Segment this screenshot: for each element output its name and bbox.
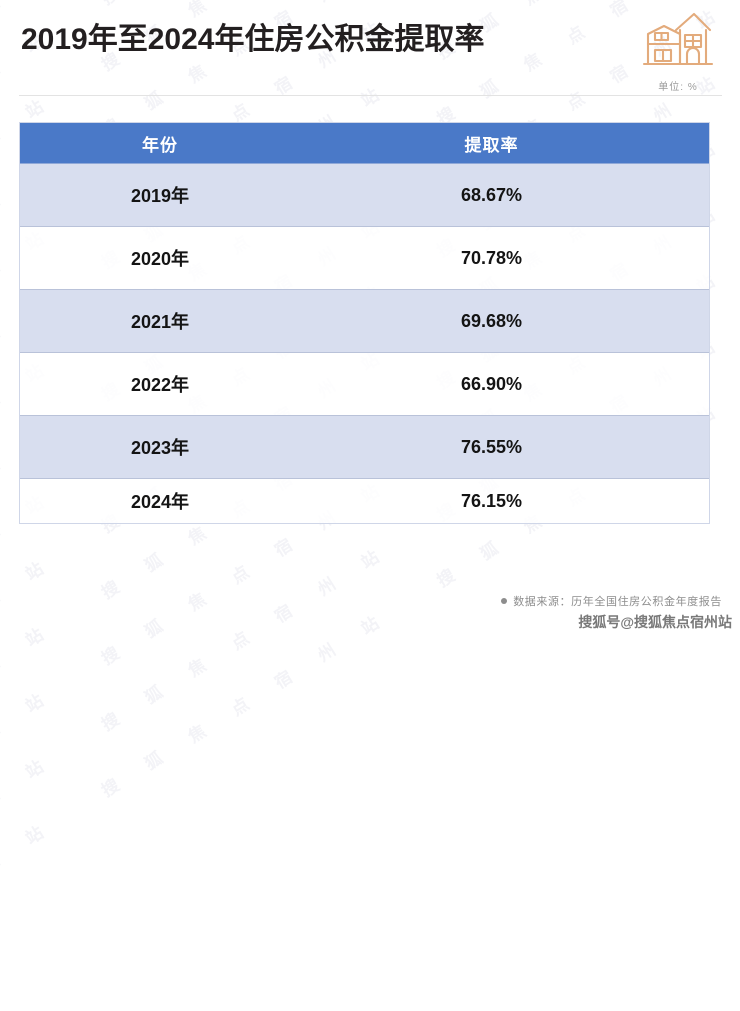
column-header-year: 年份 (20, 131, 300, 156)
data-source-note: 数据来源：历年全国住房公积金年度报告 (501, 593, 722, 609)
cell-year: 2022年 (20, 371, 300, 397)
rate-table: 年份 提取率 2019年 68.67% 2020年 70.78% 2021年 6… (19, 122, 710, 524)
cell-year: 2019年 (20, 182, 300, 208)
data-source-text: 数据来源：历年全国住房公积金年度报告 (513, 596, 722, 608)
unit-label: 单位: % (630, 78, 726, 93)
column-header-rate: 提取率 (300, 131, 709, 156)
sohu-watermark: 搜狐号@搜狐焦点宿州站 (578, 612, 732, 632)
cell-rate: 76.15% (300, 491, 709, 512)
cell-rate: 68.67% (300, 185, 709, 206)
cell-rate: 69.68% (300, 311, 709, 332)
table-row: 2020年 70.78% (20, 227, 709, 290)
table-row: 2022年 66.90% (20, 353, 709, 416)
cell-rate: 70.78% (300, 248, 709, 269)
cell-year: 2020年 (20, 245, 300, 271)
table-row: 2024年 76.15% (20, 479, 709, 523)
house-icon (630, 8, 726, 77)
cell-year: 2024年 (20, 488, 300, 514)
page-header: 2019年至2024年住房公积金提取率 (0, 0, 740, 96)
page-title: 2019年至2024年住房公积金提取率 (21, 21, 484, 59)
cell-year: 2021年 (20, 308, 300, 334)
cell-year: 2023年 (20, 434, 300, 460)
unit-block: 单位: % (630, 8, 726, 93)
table-row: 2021年 69.68% (20, 290, 709, 353)
cell-rate: 76.55% (300, 437, 709, 458)
cell-rate: 66.90% (300, 374, 709, 395)
table-row: 2023年 76.55% (20, 416, 709, 479)
bullet-icon (501, 598, 507, 604)
table-row: 2019年 68.67% (20, 164, 709, 227)
table-header-row: 年份 提取率 (20, 123, 709, 164)
